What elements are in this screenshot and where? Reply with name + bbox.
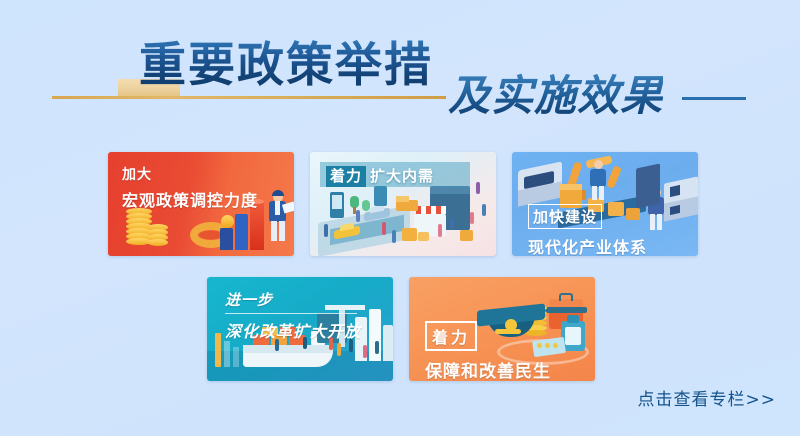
page-title-main: 重要政策举措 — [139, 40, 433, 92]
card3-label: 加快建设 现代化产业体系 — [528, 204, 647, 256]
policy-card-livelihood[interactable]: 着力 保障和改善民生 — [409, 277, 595, 381]
card1-label: 加大 宏观政策调控力度 — [122, 164, 258, 211]
card5-label: 着力 保障和改善民生 — [425, 321, 551, 381]
card4-label: 进一步 深化改革扩大开放 — [225, 289, 361, 342]
card1-line1: 加大 — [122, 164, 258, 184]
title-gold-underline — [52, 96, 446, 99]
card2-tag: 着力 — [326, 166, 366, 187]
policy-card-macro-control[interactable]: 加大 宏观政策调控力度 — [108, 152, 294, 256]
card2-label: 着力 扩大内需 — [326, 166, 438, 187]
card3-line1: 加快建设 — [528, 204, 602, 229]
card4-line2: 深化改革扩大开放 — [225, 318, 361, 342]
policy-card-modern-industry[interactable]: 加快建设 现代化产业体系 — [512, 152, 698, 256]
card2-line2: 扩大内需 — [366, 166, 438, 187]
title-blue-rule — [682, 97, 746, 100]
card1-line2: 宏观政策调控力度 — [122, 187, 258, 211]
banner-header: 重要政策举措 及实施效果 — [0, 0, 800, 136]
card5-line2: 保障和改善民生 — [425, 357, 551, 381]
card4-divider — [225, 313, 357, 314]
card5-tag: 着力 — [425, 321, 477, 351]
card3-line2: 现代化产业体系 — [528, 234, 647, 256]
view-column-link[interactable]: 点击查看专栏>> — [638, 385, 777, 410]
policy-card-reform-opening[interactable]: 进一步 深化改革扩大开放 — [207, 277, 393, 381]
card4-line1: 进一步 — [225, 289, 361, 310]
policy-card-expand-demand[interactable]: 着力 扩大内需 — [310, 152, 496, 256]
page-title-sub: 及实施效果 — [448, 72, 663, 120]
banner-stage: 重要政策举措 及实施效果 — [0, 0, 800, 436]
